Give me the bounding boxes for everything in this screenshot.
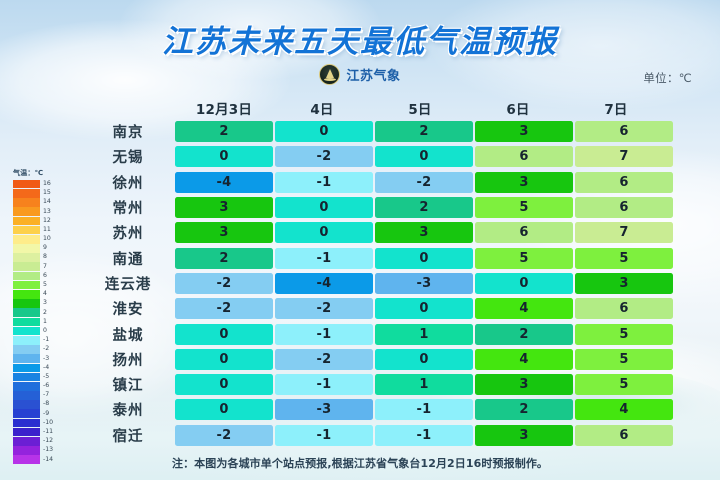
- temperature-cell: 4: [475, 349, 573, 370]
- temperature-cell: -3: [275, 399, 373, 420]
- table-header-row: 12月3日4日5日6日7日: [0, 97, 720, 119]
- table-row: 苏州30367: [0, 220, 720, 245]
- weather-bureau-logo-icon: [319, 64, 340, 85]
- temperature-cell: -1: [275, 374, 373, 395]
- temperature-cell: 6: [575, 121, 673, 142]
- table-row: 常州30256: [0, 195, 720, 220]
- temperature-cell: -2: [275, 349, 373, 370]
- temperature-cell: 3: [575, 273, 673, 294]
- temperature-cell: 0: [175, 324, 273, 345]
- temperature-cell: 3: [475, 374, 573, 395]
- temperature-cell: 0: [175, 399, 273, 420]
- temperature-cell: 5: [575, 374, 673, 395]
- temperature-cell: -2: [175, 298, 273, 319]
- temperature-cell: 4: [475, 298, 573, 319]
- city-label: 镇江: [90, 374, 175, 395]
- temperature-cell: -1: [375, 425, 473, 446]
- temperature-cell: -2: [175, 273, 273, 294]
- column-header-1: 12月3日: [175, 98, 273, 118]
- column-header-2: 4日: [273, 98, 371, 118]
- brand-block: 江苏气象: [0, 64, 720, 85]
- temperature-cell: 0: [475, 273, 573, 294]
- temperature-cell: 2: [375, 121, 473, 142]
- temperature-cell: 5: [575, 324, 673, 345]
- table-row: 泰州0-3-124: [0, 397, 720, 422]
- temperature-cell: -1: [275, 425, 373, 446]
- city-label: 无锡: [90, 146, 175, 167]
- temperature-cell: 3: [475, 172, 573, 193]
- city-label: 淮安: [90, 298, 175, 319]
- city-label: 徐州: [90, 172, 175, 193]
- table-row: 连云港-2-4-303: [0, 271, 720, 296]
- brand-name: 江苏气象: [346, 65, 400, 84]
- temperature-cell: -1: [375, 399, 473, 420]
- temperature-cell: 1: [375, 374, 473, 395]
- temperature-cell: 3: [175, 222, 273, 243]
- temperature-cell: 6: [475, 146, 573, 167]
- city-label: 扬州: [90, 349, 175, 370]
- table-row: 宿迁-2-1-136: [0, 423, 720, 448]
- temperature-cell: 0: [375, 248, 473, 269]
- forecast-table: 12月3日4日5日6日7日 南京20236无锡0-2067徐州-4-1-236常…: [0, 97, 720, 448]
- table-row: 淮安-2-2046: [0, 296, 720, 321]
- temperature-cell: 0: [375, 146, 473, 167]
- table-body: 南京20236无锡0-2067徐州-4-1-236常州30256苏州30367南…: [0, 119, 720, 448]
- temperature-cell: 5: [475, 248, 573, 269]
- column-header-3: 5日: [371, 98, 469, 118]
- temperature-cell: 0: [175, 146, 273, 167]
- temperature-cell: 6: [475, 222, 573, 243]
- temperature-cell: 7: [575, 222, 673, 243]
- temperature-cell: -4: [175, 172, 273, 193]
- column-header-4: 6日: [469, 98, 567, 118]
- temperature-cell: 3: [475, 425, 573, 446]
- table-row: 徐州-4-1-236: [0, 170, 720, 195]
- temperature-cell: -3: [375, 273, 473, 294]
- temperature-cell: -4: [275, 273, 373, 294]
- temperature-cell: 2: [175, 248, 273, 269]
- temperature-cell: 3: [175, 197, 273, 218]
- temperature-cell: -2: [175, 425, 273, 446]
- temperature-cell: 0: [275, 197, 373, 218]
- temperature-cell: 6: [575, 298, 673, 319]
- temperature-cell: 0: [375, 298, 473, 319]
- table-row: 镇江0-1135: [0, 372, 720, 397]
- legend-label: -13: [43, 447, 53, 453]
- city-label: 宿迁: [90, 425, 175, 446]
- temperature-cell: -1: [275, 248, 373, 269]
- temperature-cell: 5: [575, 349, 673, 370]
- temperature-cell: 0: [375, 349, 473, 370]
- table-row: 南通2-1055: [0, 245, 720, 270]
- temperature-cell: 2: [175, 121, 273, 142]
- temperature-cell: 5: [475, 197, 573, 218]
- temperature-cell: 2: [475, 399, 573, 420]
- temperature-cell: 2: [375, 197, 473, 218]
- temperature-cell: 0: [275, 222, 373, 243]
- temperature-cell: 7: [575, 146, 673, 167]
- temperature-cell: 2: [475, 324, 573, 345]
- city-label: 常州: [90, 197, 175, 218]
- table-row: 盐城0-1125: [0, 321, 720, 346]
- temperature-cell: 0: [175, 374, 273, 395]
- temperature-cell: 6: [575, 425, 673, 446]
- table-row: 扬州0-2045: [0, 347, 720, 372]
- unit-label: 单位：℃: [643, 70, 692, 86]
- temperature-cell: 0: [275, 121, 373, 142]
- temperature-cell: 5: [575, 248, 673, 269]
- city-label: 泰州: [90, 399, 175, 420]
- temperature-cell: 0: [175, 349, 273, 370]
- temperature-cell: -2: [375, 172, 473, 193]
- city-label: 南京: [90, 121, 175, 142]
- column-header-5: 7日: [567, 98, 665, 118]
- table-row: 无锡0-2067: [0, 144, 720, 169]
- temperature-cell: -1: [275, 172, 373, 193]
- page-title: 江苏未来五天最低气温预报: [0, 16, 720, 61]
- temperature-cell: 6: [575, 197, 673, 218]
- footer-note: 注：本图为各城市单个站点预报,根据江苏省气象台12月2日16时预报制作。: [0, 455, 720, 471]
- temperature-cell: -2: [275, 146, 373, 167]
- table-row: 南京20236: [0, 119, 720, 144]
- temperature-cell: 3: [375, 222, 473, 243]
- city-label: 连云港: [90, 273, 175, 294]
- temperature-cell: 1: [375, 324, 473, 345]
- city-label: 盐城: [90, 324, 175, 345]
- city-label: 南通: [90, 248, 175, 269]
- temperature-cell: -1: [275, 324, 373, 345]
- city-label: 苏州: [90, 222, 175, 243]
- temperature-cell: -2: [275, 298, 373, 319]
- temperature-cell: 6: [575, 172, 673, 193]
- temperature-cell: 3: [475, 121, 573, 142]
- temperature-cell: 4: [575, 399, 673, 420]
